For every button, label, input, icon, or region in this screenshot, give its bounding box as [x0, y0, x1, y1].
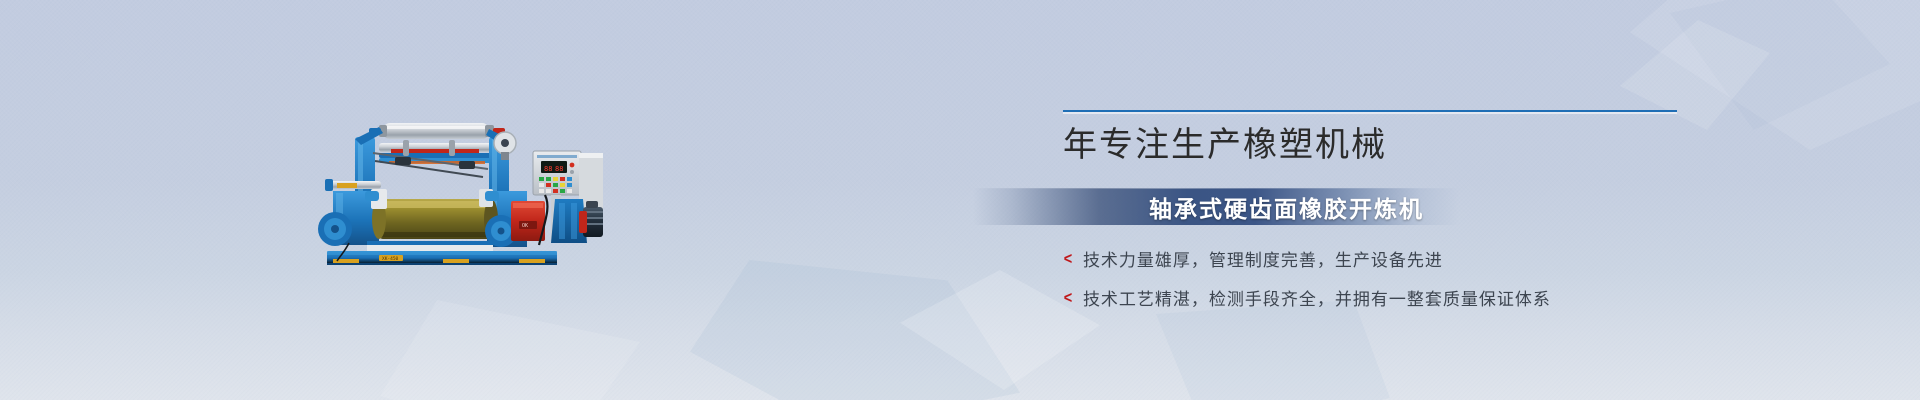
decorative-polygon-top-right-1 [1630, 0, 1920, 150]
svg-text:88: 88 [555, 165, 563, 173]
feature-list: < 技术力量雄厚，管理制度完善，生产设备先进 < 技术工艺精湛，检测手段齐全，并… [1063, 246, 1551, 324]
decorative-polygon-bottom-1 [380, 300, 640, 400]
chevron-left-icon: < [1064, 250, 1072, 267]
decorative-polygon-top-right-2 [1670, 0, 1890, 130]
chevron-left-icon: < [1064, 289, 1072, 306]
feature-text: 技术力量雄厚，管理制度完善，生产设备先进 [1083, 246, 1443, 271]
feature-text: 技术工艺精湛，检测手段齐全，并拥有一整套质量保证体系 [1083, 285, 1551, 310]
hero-text-block: 年专注生产橡塑机械 轴承式硬齿面橡胶开炼机 < 技术力量雄厚，管理制度完善，生产… [1063, 110, 1583, 165]
list-item: < 技术工艺精湛，检测手段齐全，并拥有一整套质量保证体系 [1063, 285, 1551, 310]
decorative-polygon-bottom-2 [690, 260, 1020, 400]
page-title: 年专注生产橡塑机械 [1063, 126, 1583, 165]
product-name-ribbon: 轴承式硬齿面橡胶开炼机 [973, 188, 1459, 225]
heading-rule [1063, 110, 1677, 114]
product-image-rubber-mill: 88 88 [283, 95, 603, 265]
hero-banner: 88 88 [0, 0, 1920, 400]
svg-text:OK: OK [522, 223, 528, 229]
svg-text:XK-450: XK-450 [382, 256, 399, 262]
svg-text:88: 88 [544, 165, 552, 173]
list-item: < 技术力量雄厚，管理制度完善，生产设备先进 [1063, 246, 1551, 271]
heading-rule-white [1063, 112, 1677, 114]
product-name-label: 轴承式硬齿面橡胶开炼机 [1149, 190, 1424, 224]
